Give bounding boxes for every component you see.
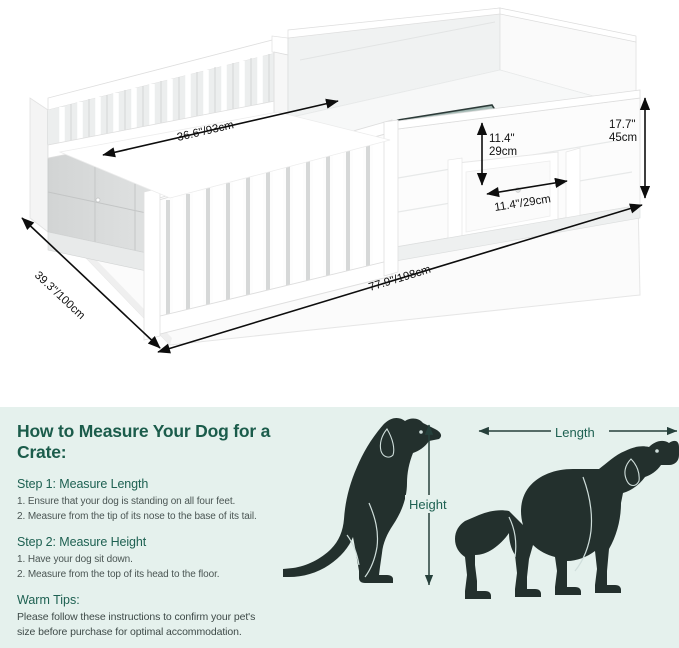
step-2-heading: Step 2: Measure Height <box>17 535 317 549</box>
panel-title: How to Measure Your Dog for a Crate: <box>17 421 317 463</box>
step-1-line-1: 1. Ensure that your dog is standing on a… <box>17 495 317 510</box>
step-2-line-2: 2. Measure from the top of its head to t… <box>17 568 317 583</box>
step-1-heading: Step 1: Measure Length <box>17 477 317 491</box>
label-overall-height-line2: 45cm <box>609 132 637 144</box>
step-1-line-2: 2. Measure from the tip of its nose to t… <box>17 510 317 525</box>
step-2-line-1: 1. Have your dog sit down. <box>17 553 317 568</box>
label-length-dog: Length <box>555 425 595 440</box>
dog-figures-svg: Height Length <box>283 407 679 648</box>
label-door-height-line2: 29cm <box>489 146 517 158</box>
measuring-guide-text: How to Measure Your Dog for a Crate: Ste… <box>17 421 317 640</box>
warm-tips-line-2: size before purchase for optimal accommo… <box>17 625 317 640</box>
whelping-box-illustration: 36.6"/93cm 11.4" 29cm 11.4"/29cm 17.7" 4… <box>0 0 679 407</box>
label-height: Height <box>409 497 447 512</box>
warm-tips-heading: Warm Tips: <box>17 593 317 607</box>
label-overall-height-line1: 17.7" <box>609 119 635 131</box>
warm-tips-block: Warm Tips: Please follow these instructi… <box>17 593 317 640</box>
standing-dog-silhouette <box>455 441 679 599</box>
dog-measurement-figures: Height Length <box>283 407 679 648</box>
warm-tips-line-1: Please follow these instructions to conf… <box>17 610 317 625</box>
product-dimension-figure: 36.6"/93cm 11.4" 29cm 11.4"/29cm 17.7" 4… <box>0 0 679 407</box>
length-dimension-arrow: Length <box>479 421 677 441</box>
step-1-block: Step 1: Measure Length 1. Ensure that yo… <box>17 477 317 524</box>
step-2-block: Step 2: Measure Height 1. Have your dog … <box>17 535 317 582</box>
measuring-guide-panel: How to Measure Your Dog for a Crate: Ste… <box>0 407 679 648</box>
label-door-height-line1: 11.4" <box>489 133 515 145</box>
